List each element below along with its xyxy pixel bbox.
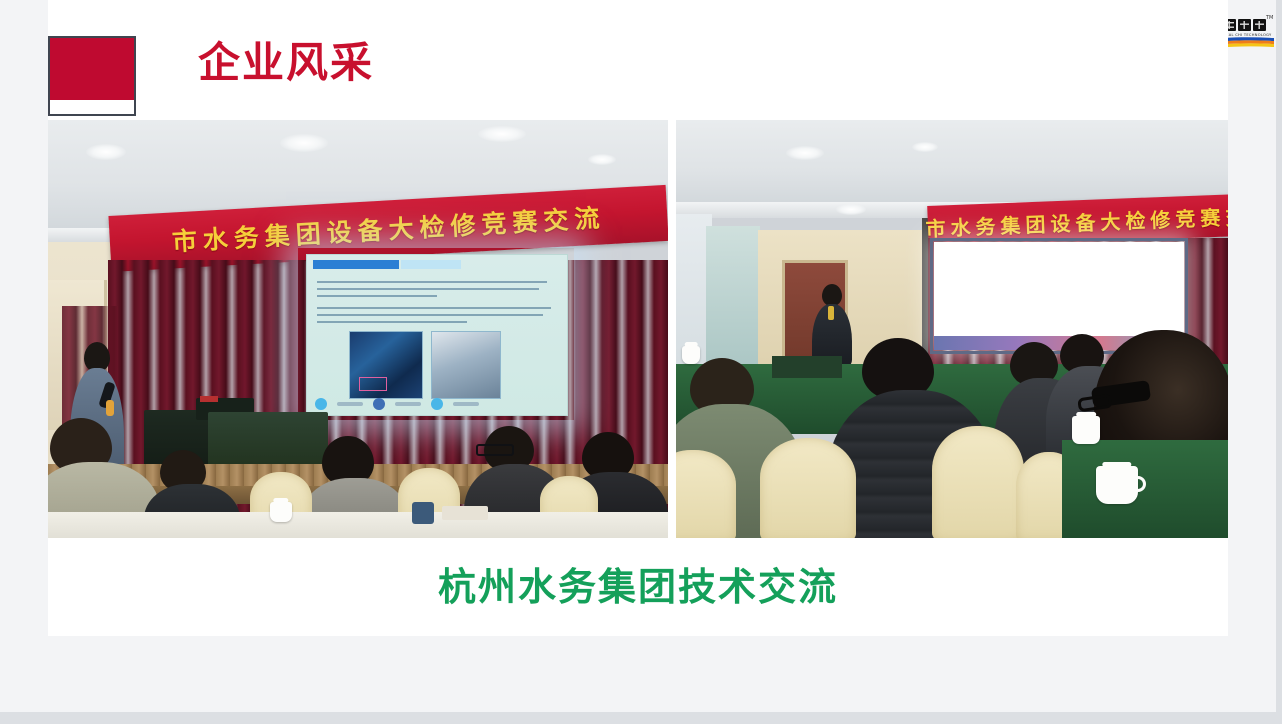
photo-gallery: 市水务集团设备大检修竞赛交流 xyxy=(48,120,1228,538)
vertical-scrollbar[interactable] xyxy=(1276,0,1282,712)
photo-right-audience[interactable]: 市水务集团设备大检修竞赛交 xyxy=(676,120,1228,538)
content-card: 企业风采 市水务集团设备大 xyxy=(48,0,1228,636)
horizontal-scrollbar[interactable] xyxy=(0,712,1282,724)
photo-right-banner-text: 市水务集团设备大检修竞赛交 xyxy=(925,200,1228,241)
photo-left-presenter-slide[interactable]: 市水务集团设备大检修竞赛交流 xyxy=(48,120,668,538)
page-root: TM ELECTRICAL CHI TECHNOLOGY 企业风采 xyxy=(0,0,1282,724)
projector-slide xyxy=(306,254,568,416)
page-title: 企业风采 xyxy=(198,42,374,84)
svg-text:TM: TM xyxy=(1265,15,1273,21)
header-accent-fill xyxy=(50,38,134,100)
section-header: 企业风采 xyxy=(48,36,374,118)
gallery-caption: 杭州水务集团技术交流 xyxy=(438,568,838,606)
caption-area: 杭州水务集团技术交流 xyxy=(48,538,1228,636)
header-accent-mark xyxy=(48,36,136,116)
